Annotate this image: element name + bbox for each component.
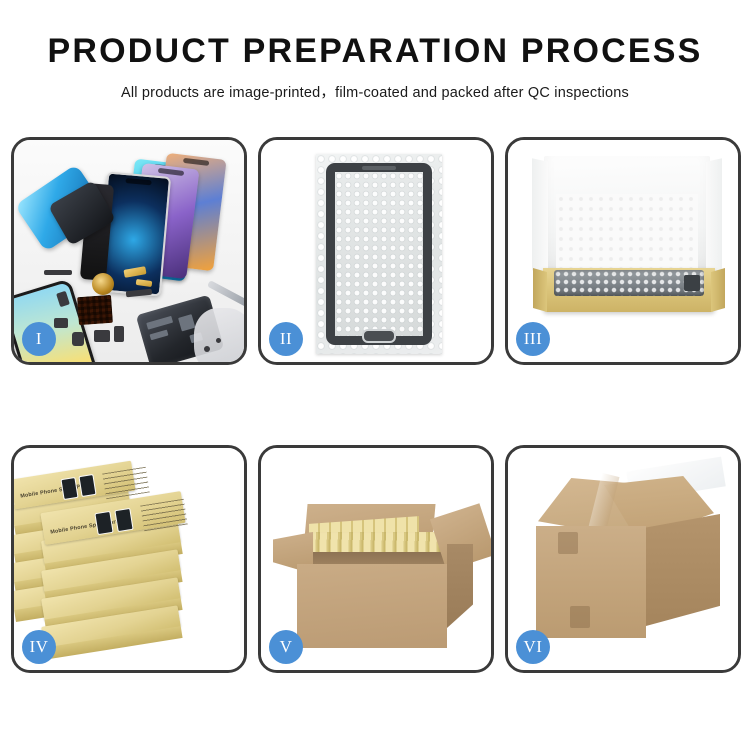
bubble-wrap-icon <box>316 154 442 354</box>
step-badge-5: V <box>269 630 303 664</box>
carton-tab-icon <box>558 532 578 554</box>
box-print-screen-icon <box>60 477 78 500</box>
carton-front-icon <box>297 564 447 648</box>
step-panel-2: II <box>258 137 494 365</box>
vibrator-icon <box>94 330 110 342</box>
steps-grid: I II III <box>11 137 739 673</box>
carton-tab-icon <box>570 606 590 628</box>
sim-tray-icon <box>114 326 124 342</box>
step-panel-1: I <box>11 137 247 365</box>
box-print-screen-icon <box>94 511 113 535</box>
wrapped-screen-icon <box>554 270 704 296</box>
header: PRODUCT PREPARATION PROCESS All products… <box>0 0 750 102</box>
hand-icon <box>194 308 244 362</box>
step-panel-5: V <box>258 445 494 673</box>
step-badge-2: II <box>269 322 303 356</box>
carton-front-icon <box>536 526 646 638</box>
page-subtitle: All products are image-printed，film-coat… <box>0 81 750 102</box>
product-preparation-infographic: PRODUCT PREPARATION PROCESS All products… <box>0 0 750 750</box>
step-badge-3: III <box>516 322 550 356</box>
box-print-screen-icon <box>78 474 96 497</box>
step-panel-3: III <box>505 137 741 365</box>
page-title: PRODUCT PREPARATION PROCESS <box>0 34 750 70</box>
step-panel-4: Mobile Phone Spare Parts Mobile Phone Sp… <box>11 445 247 673</box>
camera-module-icon <box>72 332 84 346</box>
antenna-flex-icon <box>126 289 152 298</box>
flex-strip-icon <box>44 270 72 275</box>
step-badge-4: IV <box>22 630 56 664</box>
screw-icon <box>216 338 221 343</box>
step-panel-6: VI <box>505 445 741 673</box>
carton-side-icon <box>646 514 720 626</box>
box-print-text-lines <box>140 499 188 532</box>
box-print-screen-icon <box>114 508 133 532</box>
box-print-text-lines <box>102 467 150 500</box>
phone-screen-icon <box>326 163 432 345</box>
foam-padding-icon <box>556 194 698 268</box>
tweezers-icon <box>207 280 244 307</box>
carton-side-icon <box>447 544 473 628</box>
step-badge-6: VI <box>516 630 550 664</box>
small-part-icon <box>54 318 68 328</box>
speaker-coil-icon <box>92 273 114 295</box>
step-badge-1: I <box>22 322 56 356</box>
chip-grid-icon <box>77 295 113 325</box>
screw-icon <box>204 346 210 352</box>
